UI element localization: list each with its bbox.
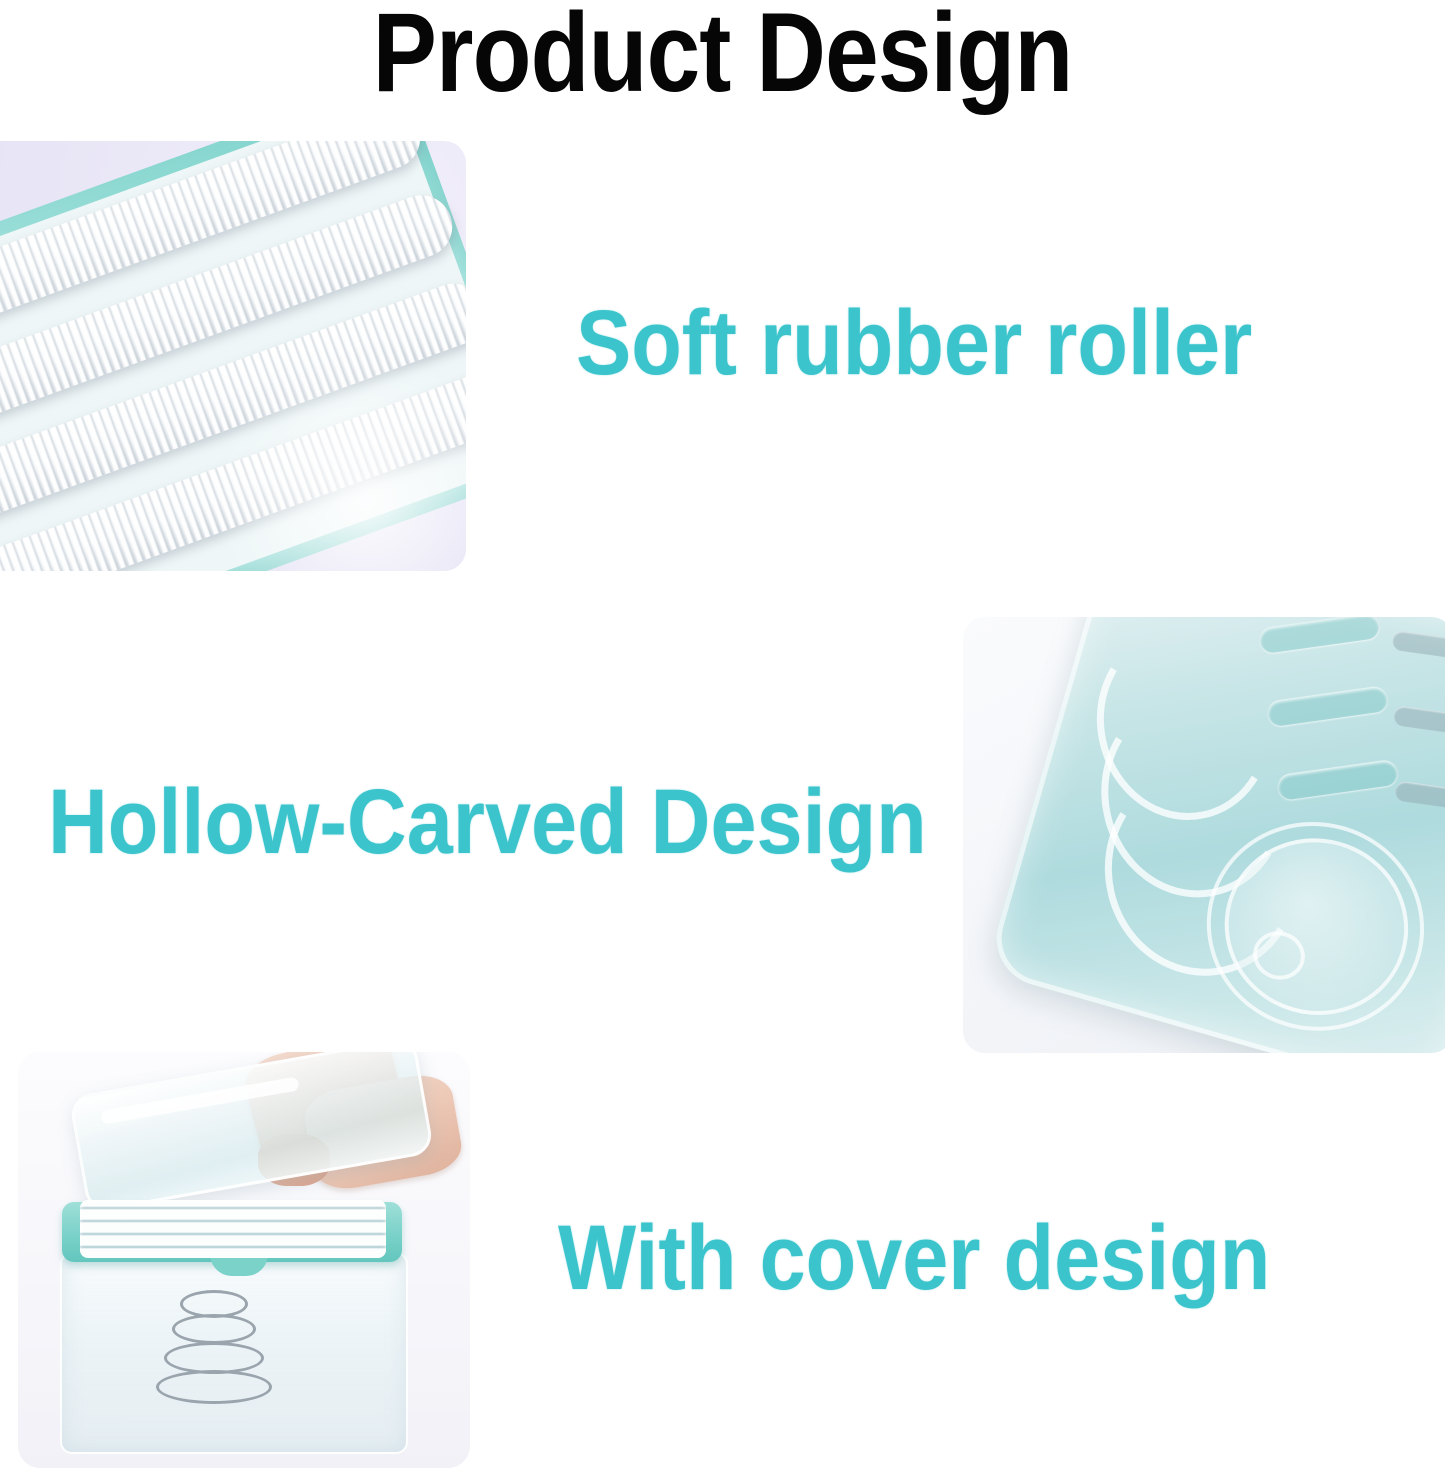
product-design-infographic: Product Design Soft rubber roller Hollow… — [0, 0, 1445, 1468]
carved-vent-dash — [1393, 705, 1445, 735]
carved-vent-dash — [1391, 630, 1445, 660]
roller-closeup-photo — [0, 141, 466, 571]
clear-lid-graphic — [985, 617, 1445, 1053]
page-title: Product Design — [101, 0, 1344, 112]
hollow-carved-lid-photo — [963, 617, 1445, 1053]
feature-label-soft-rubber-roller: Soft rubber roller — [576, 297, 1252, 389]
roller-row — [80, 1200, 386, 1258]
spring-coil — [172, 1314, 256, 1344]
feature-label-with-cover-design: With cover design — [558, 1212, 1270, 1304]
feature-label-hollow-carved-design: Hollow-Carved Design — [48, 776, 927, 868]
metal-spring — [156, 1290, 266, 1400]
cover-lift-photo — [18, 1052, 470, 1468]
roller-tray-graphic — [0, 141, 466, 571]
carved-slot — [1258, 617, 1380, 654]
spring-coil — [156, 1370, 272, 1404]
carved-vent-dash — [1394, 780, 1445, 810]
